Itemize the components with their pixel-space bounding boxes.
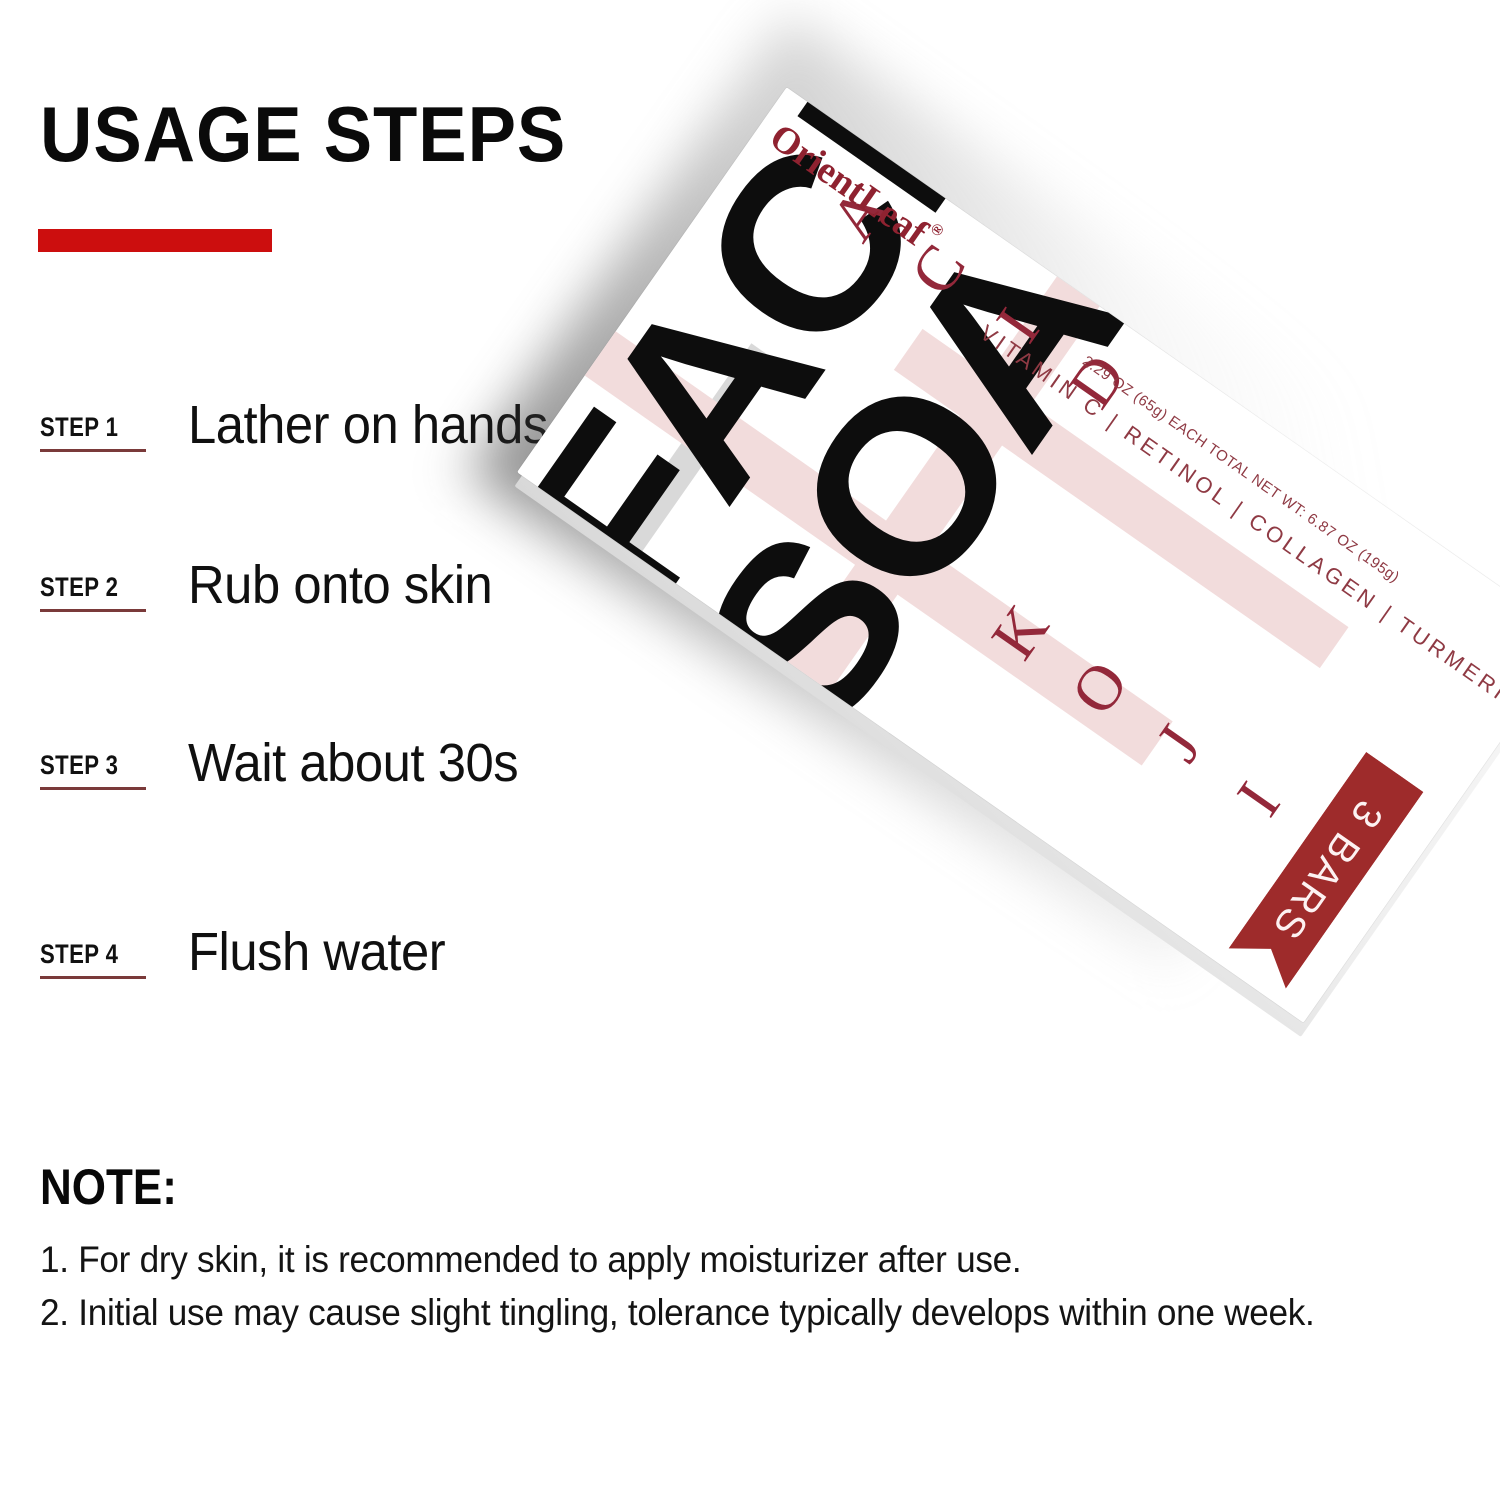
- step-text: Rub onto skin: [188, 554, 492, 616]
- step-tag: STEP 1: [40, 412, 118, 450]
- product-package-image: FACIAL SOAP ACID KOJIC OrientLeaf® VITAM…: [640, 0, 1500, 1200]
- accent-word-kojic: KOJIC: [969, 582, 1409, 921]
- product-carton: FACIAL SOAP ACID KOJIC OrientLeaf® VITAM…: [517, 87, 1500, 1023]
- title-underline-rule: [38, 229, 272, 252]
- brand-logo: OrientLeaf®: [761, 114, 949, 264]
- ingredients-line: VITAMIN C | RETINOL | COLLAGEN | TURMERI…: [975, 320, 1500, 718]
- package-drop-shadow: [467, 14, 1493, 966]
- list-item: STEP 4 Flush water: [40, 925, 680, 995]
- carton-front-panel: FACIAL SOAP ACID KOJIC OrientLeaf® VITAM…: [517, 87, 1500, 1023]
- display-line: SOAP: [669, 167, 1175, 760]
- list-item: STEP 3 Wait about 30s: [40, 736, 680, 806]
- step-text: Lather on hands: [188, 394, 548, 456]
- note-item: 2. Initial use may cause slight tingling…: [40, 1286, 1370, 1339]
- note-list: 1. For dry skin, it is recommended to ap…: [40, 1233, 1440, 1339]
- display-line: FACIAL: [517, 87, 997, 634]
- step-tag-underline: [40, 449, 146, 452]
- bars-count-label: 3 BARS: [1262, 792, 1391, 949]
- infographic-page: USAGE STEPS STEP 1 Lather on hands STEP …: [0, 0, 1500, 1500]
- decor-bar-pink: [894, 329, 1349, 668]
- bars-count-badge: 3 BARS: [1229, 752, 1424, 989]
- step-tag: STEP 2: [40, 572, 118, 610]
- list-item: STEP 1 Lather on hands: [40, 398, 680, 468]
- decor-bar-pink: [568, 320, 1172, 766]
- step-tag-underline: [40, 976, 146, 979]
- package-display-type: FACIAL SOAP: [517, 87, 1500, 1023]
- decor-bar-pink: [770, 244, 1122, 716]
- page-title: USAGE STEPS: [40, 95, 566, 173]
- accent-word-acid: ACID: [808, 164, 1168, 447]
- step-tag: STEP 3: [40, 750, 118, 788]
- note-heading: NOTE:: [40, 1158, 177, 1216]
- list-item: STEP 2 Rub onto skin: [40, 558, 680, 628]
- step-text: Wait about 30s: [188, 732, 518, 794]
- brand-name: OrientLeaf: [762, 116, 935, 255]
- note-item: 1. For dry skin, it is recommended to ap…: [40, 1233, 1370, 1286]
- net-weight-line: 2.29 OZ (65g) EACH TOTAL NET WT: 6.87 OZ…: [1079, 353, 1402, 586]
- step-tag-underline: [40, 787, 146, 790]
- step-tag: STEP 4: [40, 939, 118, 977]
- step-text: Flush water: [188, 921, 445, 983]
- step-tag-underline: [40, 609, 146, 612]
- registered-trademark-icon: ®: [926, 218, 950, 242]
